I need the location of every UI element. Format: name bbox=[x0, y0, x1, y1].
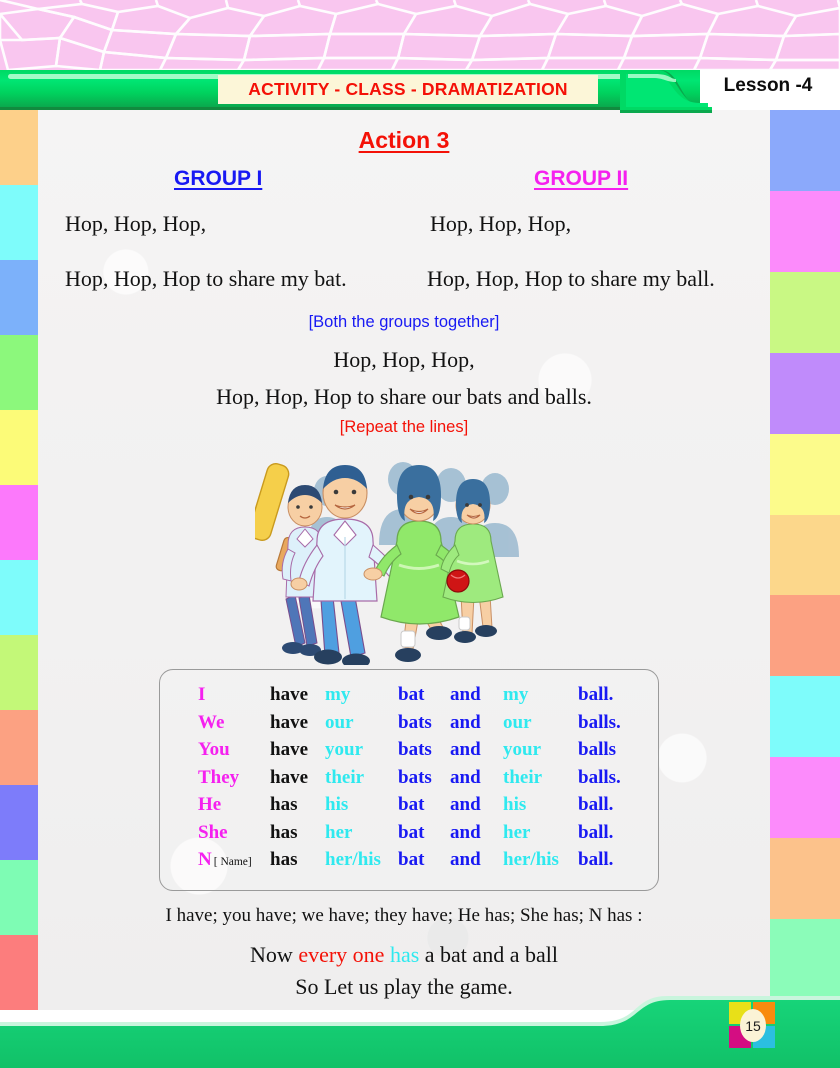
red-ball-icon bbox=[447, 570, 469, 592]
table-cell-and: and bbox=[450, 846, 481, 873]
group-2-line-2: Hop, Hop, Hop to share my ball. bbox=[427, 266, 715, 292]
color-strip-cell-9 bbox=[770, 838, 840, 919]
group-1-line-2: Hop, Hop, Hop to share my bat. bbox=[65, 266, 347, 292]
table-cell-verb: have bbox=[270, 709, 308, 736]
table-cell-and: and bbox=[450, 709, 481, 736]
summary-line: I have; you have; we have; they have; He… bbox=[38, 905, 770, 927]
mosaic-pattern-icon bbox=[0, 0, 840, 70]
color-strip-cell-6 bbox=[0, 560, 38, 635]
table-cell-obj1: bats bbox=[398, 736, 432, 763]
page-number: 15 bbox=[740, 1009, 766, 1042]
table-cell-obj1: bats bbox=[398, 764, 432, 791]
color-strip-cell-10 bbox=[770, 919, 840, 1000]
table-cell-subject: You bbox=[198, 736, 230, 763]
table-cell-poss1: her/his bbox=[325, 846, 381, 873]
both-groups-note: [Both the groups together] bbox=[38, 313, 770, 332]
table-cell-poss2: our bbox=[503, 709, 532, 736]
table-cell-and: and bbox=[450, 819, 481, 846]
footer-band: 15 bbox=[0, 996, 840, 1068]
page-content-area: Action 3 GROUP I GROUP II Hop, Hop, Hop,… bbox=[38, 110, 770, 1010]
table-cell-subject: They bbox=[198, 764, 239, 791]
color-strip-cell-6 bbox=[770, 595, 840, 676]
table-cell-obj2: ball. bbox=[578, 819, 613, 846]
table-cell-verb: have bbox=[270, 736, 308, 763]
right-color-strip bbox=[770, 110, 840, 1000]
table-cell-poss1: our bbox=[325, 709, 354, 736]
top-decorative-mosaic-band bbox=[0, 0, 840, 70]
color-strip-cell-3 bbox=[0, 335, 38, 410]
closing-line-1: Now every one has a bat and a ball bbox=[38, 942, 770, 968]
color-strip-cell-8 bbox=[770, 757, 840, 838]
table-cell-and: and bbox=[450, 681, 481, 708]
header-banner-tail-curve bbox=[620, 70, 712, 113]
table-row: N[ Name]hasher/hisbatandher/hisball. bbox=[160, 846, 660, 874]
page-number-badge: 15 bbox=[729, 1002, 777, 1050]
closing-now: Now bbox=[250, 942, 298, 967]
color-strip-cell-2 bbox=[0, 260, 38, 335]
group-2-heading: GROUP II bbox=[534, 167, 628, 191]
color-strip-cell-7 bbox=[0, 635, 38, 710]
table-cell-poss2: her bbox=[503, 819, 530, 846]
color-strip-cell-1 bbox=[0, 185, 38, 260]
table-cell-poss2: their bbox=[503, 764, 542, 791]
color-strip-cell-10 bbox=[0, 860, 38, 935]
grammar-practice-table: Ihavemybatandmyball.Wehaveourbatsandourb… bbox=[159, 669, 659, 891]
table-row: Wehaveourbatsandourballs. bbox=[160, 709, 660, 737]
color-strip-cell-9 bbox=[0, 785, 38, 860]
closing-has: has bbox=[384, 942, 419, 967]
table-cell-obj2: ball. bbox=[578, 791, 613, 818]
table-cell-poss1: his bbox=[325, 791, 348, 818]
table-cell-verb: have bbox=[270, 764, 308, 791]
table-row: Ihavemybatandmyball. bbox=[160, 681, 660, 709]
closing-everyone: every one bbox=[298, 942, 384, 967]
left-color-strip bbox=[0, 110, 38, 1010]
table-cell-poss2: my bbox=[503, 681, 528, 708]
children-playing-illustration bbox=[255, 445, 535, 665]
table-cell-and: and bbox=[450, 764, 481, 791]
color-strip-cell-2 bbox=[770, 272, 840, 353]
banner-curve-icon bbox=[620, 70, 712, 113]
table-cell-subject: I bbox=[198, 681, 205, 708]
table-cell-obj2: balls. bbox=[578, 709, 621, 736]
table-cell-obj1: bat bbox=[398, 681, 424, 708]
table-cell-verb: has bbox=[270, 846, 297, 873]
table-cell-obj1: bat bbox=[398, 819, 424, 846]
table-cell-and: and bbox=[450, 736, 481, 763]
table-cell-poss1: your bbox=[325, 736, 363, 763]
header-title-box: ACTIVITY - CLASS - DRAMATIZATION bbox=[218, 75, 598, 104]
table-cell-subject: N[ Name] bbox=[198, 846, 252, 876]
color-strip-cell-1 bbox=[770, 191, 840, 272]
children-with-bat-and-ball-icon bbox=[255, 445, 535, 665]
table-cell-and: and bbox=[450, 791, 481, 818]
group-2-line-1: Hop, Hop, Hop, bbox=[430, 211, 571, 237]
together-line-1: Hop, Hop, Hop, bbox=[38, 347, 770, 373]
table-cell-poss1: my bbox=[325, 681, 350, 708]
color-strip-cell-8 bbox=[0, 710, 38, 785]
closing-rest: a bat and a ball bbox=[419, 942, 558, 967]
header-title: ACTIVITY - CLASS - DRAMATIZATION bbox=[248, 79, 567, 100]
name-placeholder-tag: [ Name] bbox=[214, 856, 252, 868]
table-cell-poss1: their bbox=[325, 764, 364, 791]
color-strip-cell-4 bbox=[0, 410, 38, 485]
table-cell-obj1: bat bbox=[398, 791, 424, 818]
table-row: Hehashisbatandhisball. bbox=[160, 791, 660, 819]
color-strip-cell-5 bbox=[770, 515, 840, 596]
color-strip-cell-0 bbox=[0, 110, 38, 185]
color-strip-cell-0 bbox=[770, 110, 840, 191]
together-line-2: Hop, Hop, Hop to share our bats and ball… bbox=[38, 384, 770, 410]
table-row: Youhaveyourbatsandyourballs bbox=[160, 736, 660, 764]
table-cell-obj2: ball. bbox=[578, 846, 613, 873]
table-cell-obj1: bats bbox=[398, 709, 432, 736]
table-cell-poss2: her/his bbox=[503, 846, 559, 873]
action-title: Action 3 bbox=[38, 127, 770, 154]
repeat-lines-note: [Repeat the lines] bbox=[38, 418, 770, 437]
table-cell-poss2: your bbox=[503, 736, 541, 763]
table-cell-obj2: balls bbox=[578, 736, 616, 763]
lesson-label: Lesson -4 bbox=[708, 70, 828, 102]
table-row: Theyhavetheirbatsandtheirballs. bbox=[160, 764, 660, 792]
table-cell-obj2: ball. bbox=[578, 681, 613, 708]
group-1-heading: GROUP I bbox=[174, 167, 262, 191]
color-strip-cell-3 bbox=[770, 353, 840, 434]
table-cell-subject: He bbox=[198, 791, 221, 818]
table-cell-verb: has bbox=[270, 819, 297, 846]
color-strip-cell-7 bbox=[770, 676, 840, 757]
color-strip-cell-5 bbox=[0, 485, 38, 560]
table-cell-obj2: balls. bbox=[578, 764, 621, 791]
table-cell-obj1: bat bbox=[398, 846, 424, 873]
table-cell-subject: We bbox=[198, 709, 224, 736]
table-cell-poss2: his bbox=[503, 791, 526, 818]
table-row: Shehasherbatandherball. bbox=[160, 819, 660, 847]
table-cell-poss1: her bbox=[325, 819, 352, 846]
table-cell-verb: have bbox=[270, 681, 308, 708]
footer-curve-icon bbox=[0, 996, 840, 1068]
color-strip-cell-4 bbox=[770, 434, 840, 515]
group-1-line-1: Hop, Hop, Hop, bbox=[65, 211, 206, 237]
table-cell-verb: has bbox=[270, 791, 297, 818]
table-cell-subject: She bbox=[198, 819, 228, 846]
